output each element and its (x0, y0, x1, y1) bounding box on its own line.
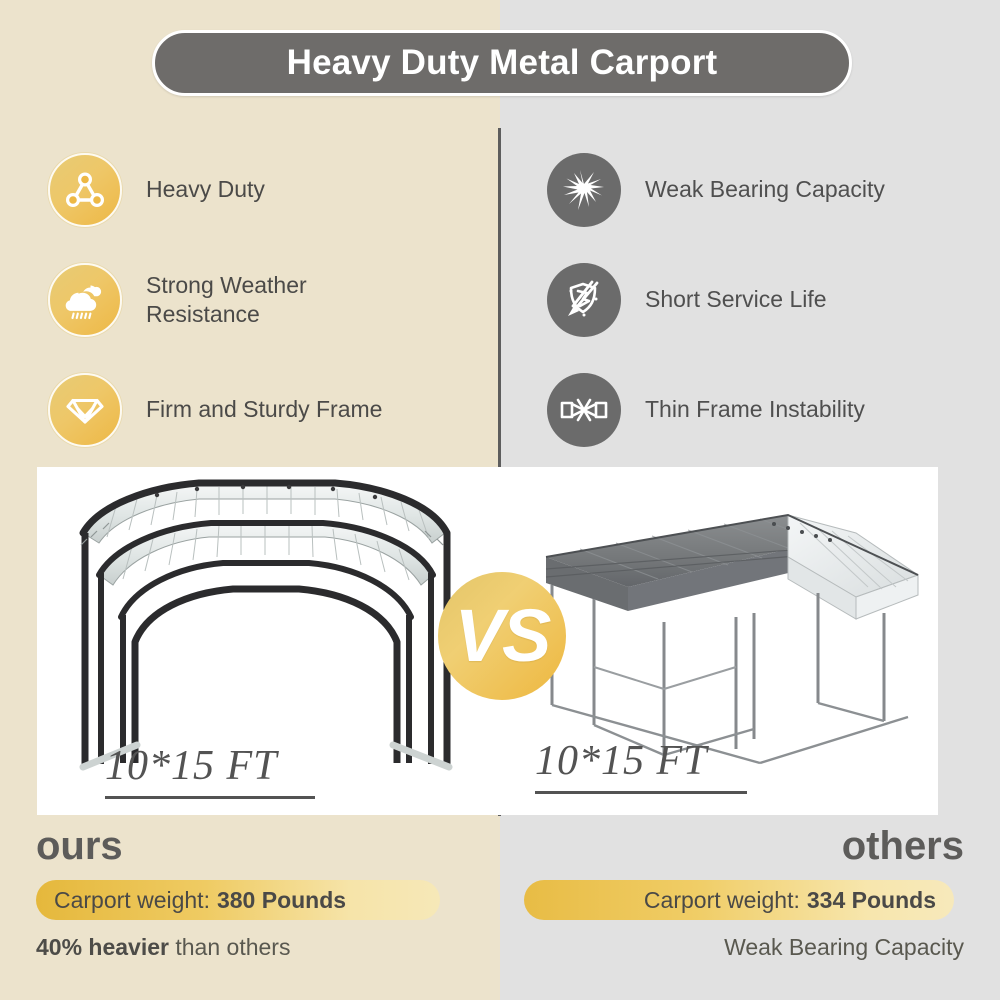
feature-label-weak-bearing: Weak Bearing Capacity (645, 175, 885, 204)
cloud-rain-icon (48, 263, 122, 337)
feature-label-short-service-life: Short Service Life (645, 285, 827, 314)
feature-label-thin-frame: Thin Frame Instability (645, 395, 865, 424)
others-compare-block: others Carport weight: 334 Pounds Weak B… (524, 826, 964, 961)
others-weight-pill: Carport weight: 334 Pounds (524, 880, 954, 920)
others-heading: others (524, 826, 964, 866)
page-title: Heavy Duty Metal Carport (287, 43, 718, 83)
left-feature-list: Heavy Duty Strong Weather (48, 135, 478, 465)
feature-label-line-2: Resistance (146, 300, 307, 329)
feature-label-weather-resistance: Strong Weather Resistance (146, 271, 307, 330)
others-weight-prefix: Carport weight: (644, 887, 800, 914)
ours-weight-value: 380 Pounds (217, 887, 346, 914)
vs-badge: VS (438, 572, 566, 700)
feature-row-heavy-duty: Heavy Duty (48, 135, 478, 245)
feature-label-line-1: Strong Weather (146, 271, 307, 300)
diamond-gem-icon (48, 373, 122, 447)
others-weight-value: 334 Pounds (807, 887, 936, 914)
left-dimension-label: 10*15 FT (105, 742, 278, 790)
page-title-banner: Heavy Duty Metal Carport (152, 30, 852, 96)
feature-label-sturdy-frame: Firm and Sturdy Frame (146, 395, 382, 424)
ours-compare-block: ours Carport weight: 380 Pounds 40% heav… (36, 826, 476, 961)
others-note: Weak Bearing Capacity (524, 934, 964, 961)
feature-row-sturdy-frame: Firm and Sturdy Frame (48, 355, 478, 465)
left-dimension-underline (105, 796, 315, 799)
feature-row-weather-resistance: Strong Weather Resistance (48, 245, 478, 355)
vs-label: VS (455, 599, 550, 673)
broken-shield-icon (547, 263, 621, 337)
feature-label-heavy-duty: Heavy Duty (146, 175, 265, 204)
right-dimension-underline (535, 791, 747, 794)
ours-weight-pill: Carport weight: 380 Pounds (36, 880, 440, 920)
others-note-plain: Weak Bearing Capacity (724, 934, 964, 960)
crack-shatter-icon (547, 153, 621, 227)
ours-heading: ours (36, 826, 476, 866)
right-dimension-label: 10*15 FT (535, 737, 708, 785)
ours-weight-prefix: Carport weight: (54, 887, 210, 914)
feature-row-weak-bearing: Weak Bearing Capacity (547, 135, 977, 245)
ours-note-plain: than others (175, 934, 290, 960)
right-feature-list: Weak Bearing Capacity S (547, 135, 977, 465)
ours-note-strong: 40% heavier (36, 934, 169, 960)
feature-row-thin-frame: Thin Frame Instability (547, 355, 977, 465)
truss-triangle-icon (48, 153, 122, 227)
ours-note: 40% heavier than others (36, 934, 476, 961)
feature-row-short-service-life: Short Service Life (547, 245, 977, 355)
bent-beam-icon (547, 373, 621, 447)
